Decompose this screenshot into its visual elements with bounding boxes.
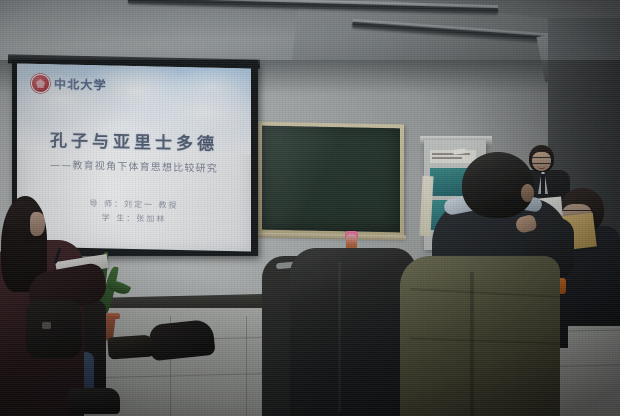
university-logo: 中北大学	[31, 74, 107, 95]
black-coat-on-chair	[290, 248, 416, 416]
university-seal-icon	[31, 74, 50, 93]
coat-fold	[338, 262, 341, 412]
floor-seam	[246, 316, 247, 416]
attendee-leg	[148, 319, 215, 361]
blackboard-sheen	[262, 126, 400, 233]
bag-buckle	[42, 322, 51, 329]
slide-subtitle: ——教育视角下体育思想比较研究	[17, 155, 251, 175]
shoe	[107, 334, 154, 359]
shoe	[68, 388, 120, 414]
attendee-ear	[521, 184, 534, 202]
presentation-slide: 中北大学 孔子与亚里士多德 ——教育视角下体育思想比较研究 导 师：刘定一 教授…	[17, 63, 251, 251]
olive-coat-on-chair	[400, 256, 560, 416]
presenter-tie	[541, 174, 545, 194]
note-taker-face	[30, 212, 45, 236]
slide-credits: 导 师：刘定一 教授 学 生：张加林	[17, 195, 251, 228]
university-name: 中北大学	[54, 75, 107, 93]
coat-fold	[470, 272, 474, 416]
glasses-icon	[531, 157, 554, 164]
notice-line	[432, 157, 462, 159]
photo-scene: 中北大学 孔子与亚里士多德 ——教育视角下体育思想比较研究 导 师：刘定一 教授…	[0, 0, 620, 416]
shoulder-bag	[26, 300, 82, 358]
slide-title: 孔子与亚里士多德	[17, 125, 251, 155]
